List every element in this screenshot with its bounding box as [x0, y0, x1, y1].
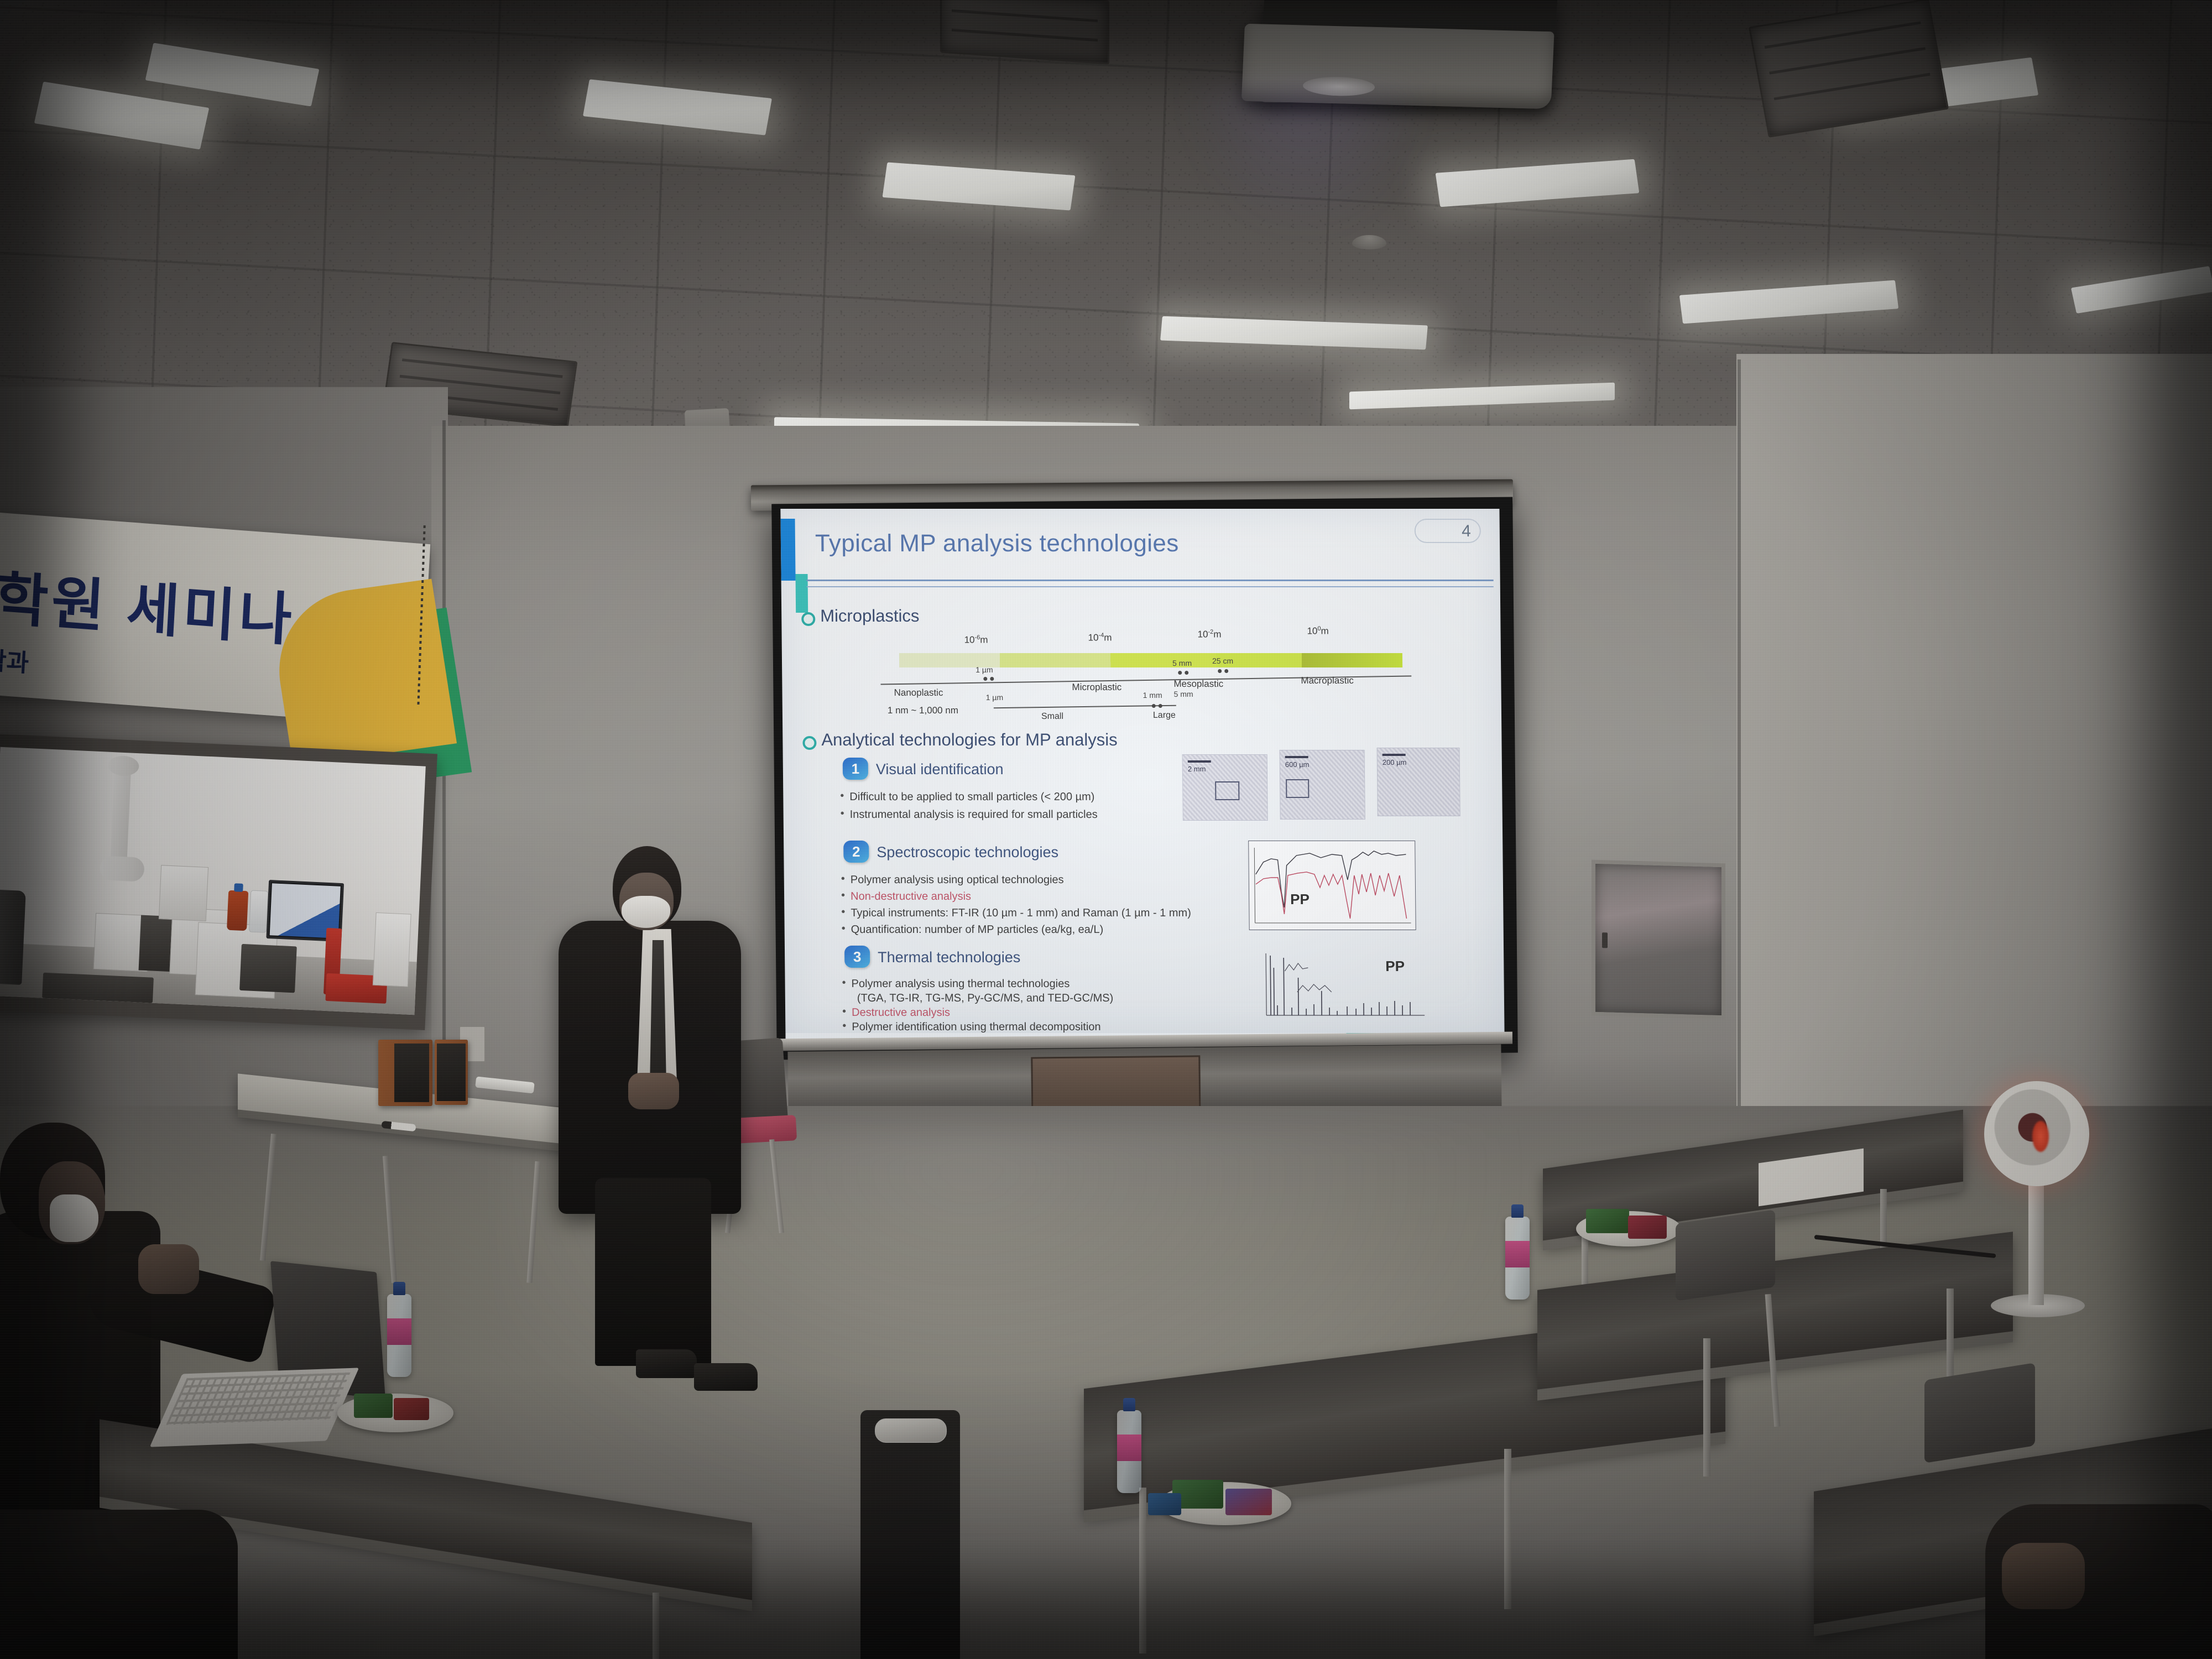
scale-sub-label-large: Large: [1153, 711, 1176, 721]
scalebar-label: 600 µm: [1285, 760, 1310, 769]
bottle-label: [387, 1318, 411, 1345]
scale-category-mesoplastic: Mesoplastic: [1173, 679, 1223, 690]
micrograph-image-2: 600 µm: [1280, 750, 1365, 820]
lab-bench-items: [42, 973, 154, 1003]
scalebar-line: [1188, 760, 1211, 763]
scale-tick-1e0: 100m: [1307, 625, 1328, 637]
banner-subtitle-text: 학과: [0, 640, 30, 679]
attendee-hand: [138, 1244, 199, 1294]
bottle-label: [1117, 1434, 1141, 1461]
scale-tick-1e-6: 10-6m: [964, 634, 988, 646]
banner-yellow-swoosh: [268, 579, 457, 766]
wall-access-panel: [1592, 860, 1725, 1020]
amber-reagent-bottle: [227, 890, 248, 931]
stacking-chair-back: [1924, 1363, 2035, 1463]
table-leg: [1703, 1338, 1710, 1477]
snack-item: [1225, 1489, 1272, 1515]
presenter-face-mask: [622, 896, 670, 928]
scale-category-macroplastic: Macroplastic: [1301, 675, 1354, 686]
micrograph-image-1: 2 mm: [1182, 754, 1268, 821]
lab-extraction-arm-nozzle: [100, 855, 145, 882]
snack-item: [354, 1394, 393, 1418]
bottle-cap: [1123, 1398, 1135, 1411]
scale-tick-1e-2: 10-2m: [1197, 629, 1221, 640]
presenter-shoe: [694, 1363, 758, 1391]
heater-pole: [2028, 1178, 2044, 1305]
scale-sub-marker-dot: [1159, 704, 1162, 708]
lab-extraction-arm: [110, 761, 132, 867]
slide-bullet-highlight: Non-destructive analysis: [851, 890, 971, 903]
slide-subhead-visual-identification: Visual identification: [876, 761, 1004, 778]
scale-tick-1e-4: 10-4m: [1088, 632, 1112, 644]
scale-sub-axis: [994, 705, 1176, 709]
snack-item: [1586, 1209, 1629, 1233]
laptop-keyboard[interactable]: [150, 1368, 359, 1447]
presenter-trousers: [595, 1178, 711, 1366]
water-bottle[interactable]: [387, 1294, 411, 1377]
scale-sub-end-5mm: 5 mm: [1174, 690, 1193, 698]
scale-label-1um: 1 µm: [975, 665, 993, 674]
table-leg: [1139, 1488, 1146, 1653]
region-of-interest-box: [1286, 779, 1309, 798]
bottle-cap: [1511, 1204, 1524, 1218]
scale-category-nanoplastic: Nanoplastic: [894, 687, 943, 698]
bullet-text-part: Polymer identification using thermal dec…: [852, 1021, 1100, 1033]
scalebar-label: 200 µm: [1383, 758, 1407, 766]
microplastics-size-scale: 10-6m 10-4m 10-2m 100m 1 µm 5 mm 25 cm N…: [864, 622, 1435, 724]
lab-instrument-dark-panel: [139, 915, 172, 972]
speaker-grille: [437, 1044, 466, 1101]
scale-label-5mm: 5 mm: [1172, 659, 1192, 667]
waste-bin: [860, 1410, 960, 1659]
attendee-face-mask: [50, 1194, 98, 1242]
slide-page-number: 4: [1415, 519, 1481, 543]
water-bottle[interactable]: [1505, 1217, 1530, 1300]
lab-storage-rack: [373, 912, 411, 987]
gas-cylinder: [0, 889, 26, 985]
presenter-shoe: [636, 1349, 697, 1378]
scale-marker-dot: [983, 677, 987, 681]
slide-subhead-spectroscopic: Spectroscopic technologies: [877, 844, 1058, 861]
snack-item: [394, 1398, 429, 1420]
scale-gradient-bar: [899, 653, 1402, 667]
stacking-chair-back: [1676, 1209, 1775, 1301]
scale-sub-start-1um: 1 µm: [986, 693, 1004, 702]
slide-bullet: Instrumental analysis is required for sm…: [850, 808, 1098, 821]
table-leg: [1504, 1449, 1511, 1609]
wall-corner-edge: [1738, 359, 1741, 1145]
slide-title: Typical MP analysis technologies: [815, 530, 1179, 557]
scale-marker-dot: [990, 677, 994, 681]
wall-corner-edge: [442, 420, 446, 1139]
slide-item-number-1: 1: [843, 758, 868, 780]
seminar-banner: 학원 세미나 학과: [0, 512, 430, 726]
waste-bin-label: [875, 1418, 947, 1443]
lecture-room-photo: 학원 세미나 학과 Typical MP analysis: [0, 0, 2212, 1659]
radiant-heater[interactable]: [1984, 1081, 2089, 1186]
scale-marker-dot: [1178, 671, 1182, 675]
scale-sub-mid-1mm: 1 mm: [1143, 691, 1162, 700]
slide-bullet: Polymer analysis using thermal technolog…: [852, 978, 1070, 990]
clear-reagent-bottle: [249, 890, 268, 933]
slide-item-number-3: 3: [844, 946, 870, 968]
scalebar-line: [1383, 754, 1406, 756]
presentation-slide: Typical MP analysis technologies 4 Micro…: [780, 509, 1504, 1040]
slide-title-rule-secondary: [807, 586, 1494, 587]
snack-item: [1148, 1493, 1181, 1515]
slide-heading-analytical: Analytical technologies for MP analysis: [821, 730, 1118, 750]
slide-bullet: Polymer identification using thermal dec…: [852, 1021, 1100, 1034]
scale-marker-dot: [1224, 669, 1228, 673]
foreground-attendee-hand: [2002, 1543, 2085, 1609]
water-bottle[interactable]: [1117, 1410, 1141, 1493]
bottle-cap: [393, 1282, 405, 1295]
ftir-spectrum-plot: PP: [1248, 841, 1416, 930]
ftir-spectrum-svg: [1249, 841, 1416, 930]
banner-title-text: 학원 세미나: [0, 551, 298, 657]
slide-bullet: Quantification: number of MP particles (…: [851, 924, 1104, 936]
projector-light-glow: [1189, 83, 1421, 227]
scale-category-microplastic: Microplastic: [1072, 682, 1121, 693]
panel-handle[interactable]: [1602, 932, 1608, 948]
lab-autosampler: [159, 865, 208, 921]
region-of-interest-box: [1215, 781, 1239, 800]
pygcms-chromatogram-plot: PP: [1253, 946, 1430, 1029]
foreground-attendee-left: [0, 1510, 238, 1659]
bookshelf-speaker-left: [378, 1040, 432, 1106]
slide-bullet-continuation: (TGA, TG-IR, TG-MS, Py-GC/MS, and TED-GC…: [857, 992, 1114, 1005]
right-wall: [1736, 354, 2212, 1217]
slide-bullet: Typical instruments: FT-IR (10 µm - 1 mm…: [851, 907, 1191, 920]
bookshelf-speaker-right: [435, 1040, 468, 1105]
scalebar-line: [1285, 756, 1308, 758]
slide-bullet-highlight: Destructive analysis: [852, 1006, 950, 1019]
lab-extraction-arm-head: [107, 755, 139, 777]
scale-sub-marker-dot: [1152, 704, 1156, 708]
slide-title-rule: [807, 580, 1494, 581]
lab-oven-window: [239, 944, 297, 993]
speaker-grille: [394, 1044, 429, 1102]
lab-window: [0, 747, 426, 1015]
micrograph-image-3: 200 µm: [1377, 748, 1460, 816]
snack-item: [1628, 1215, 1667, 1239]
slide-bullet: Polymer analysis using optical technolog…: [851, 874, 1064, 886]
projection-screen: Typical MP analysis technologies 4 Micro…: [780, 509, 1504, 1040]
scale-marker-dot: [1185, 671, 1188, 675]
bottle-label: [1505, 1241, 1530, 1267]
scale-sub-label-small: Small: [1041, 712, 1063, 722]
slide-bullet: Difficult to be applied to small particl…: [849, 791, 1094, 804]
scale-marker-dot: [1218, 669, 1222, 673]
laptop-keys[interactable]: [166, 1373, 350, 1425]
heater-glowing-element: [2032, 1121, 2049, 1152]
scale-label-25cm: 25 cm: [1212, 656, 1233, 665]
slide-subhead-thermal: Thermal technologies: [878, 949, 1020, 966]
scalebar-label: 2 mm: [1188, 765, 1206, 773]
slide-accent-blue-bar: [781, 519, 796, 581]
scale-nano-range: 1 nm ~ 1,000 nm: [888, 705, 958, 716]
smoke-detector: [1352, 235, 1386, 249]
chromatogram-polymer-label: PP: [1385, 958, 1405, 975]
slide-item-number-2: 2: [843, 841, 869, 863]
table-leg: [653, 1593, 659, 1659]
presenter-hands: [628, 1073, 679, 1109]
ftir-polymer-label: PP: [1290, 891, 1310, 908]
